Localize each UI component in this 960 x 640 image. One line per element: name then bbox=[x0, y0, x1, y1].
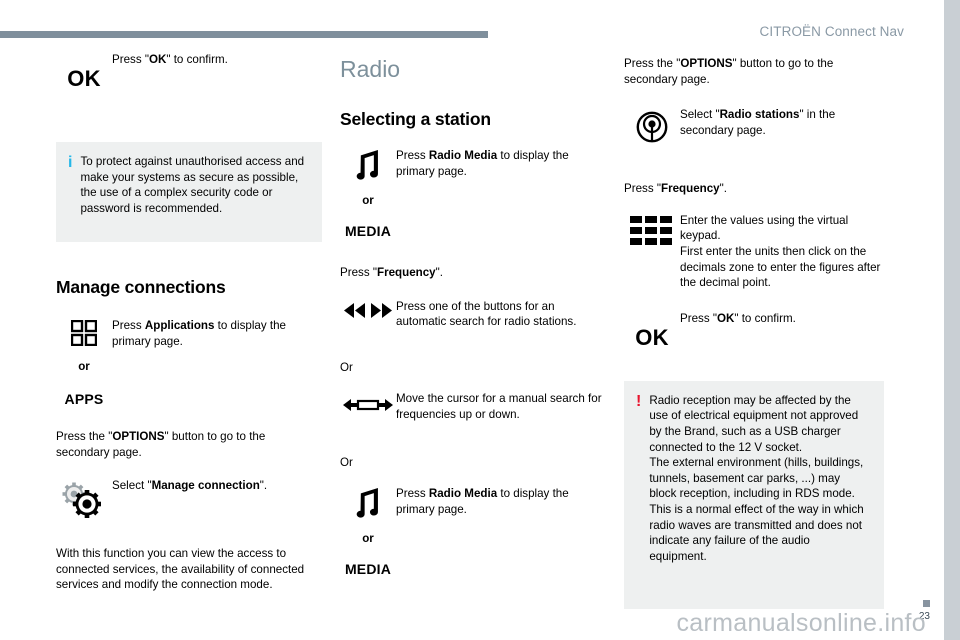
ok-suffix: " to confirm. bbox=[166, 53, 227, 66]
music-note-icon-cell-1: or MEDIA bbox=[340, 148, 396, 239]
manage-connection-paragraph: Select "Manage connection". bbox=[112, 478, 322, 494]
auto-search-step: Press one of the buttons for an automati… bbox=[340, 299, 606, 330]
page-number: 23 bbox=[919, 611, 930, 622]
manage-connections-title: Manage connections bbox=[56, 276, 322, 298]
page-marker-square bbox=[923, 600, 930, 607]
radio-media-step-2: or MEDIA Press Radio Media to display th… bbox=[340, 486, 606, 577]
apps-button-label[interactable]: APPS bbox=[65, 391, 104, 407]
ok-button-label-right[interactable]: OK bbox=[635, 325, 669, 351]
radio-antenna-icon-cell bbox=[624, 107, 680, 143]
rm2-prefix: Press bbox=[396, 487, 429, 500]
music-note-icon-cell-2: or MEDIA bbox=[340, 486, 396, 577]
rm2-bold: Radio Media bbox=[429, 487, 497, 500]
options-paragraph-right: Press the "OPTIONS" button to go to the … bbox=[624, 56, 890, 87]
ok-step-left: OK Press "OK" to confirm. bbox=[56, 52, 322, 92]
seek-prev-next-icon[interactable] bbox=[343, 302, 393, 319]
brand-title: CITROËN Connect Nav bbox=[760, 24, 904, 39]
ok-bold: OK bbox=[149, 53, 166, 66]
okr-prefix: Press " bbox=[680, 312, 717, 325]
apps-bold: Applications bbox=[145, 319, 215, 332]
manual-search-text: Move the cursor for a manual search for … bbox=[396, 391, 606, 422]
mc-bold: Manage connection bbox=[152, 479, 260, 492]
radio-antenna-icon[interactable] bbox=[636, 111, 668, 143]
radio-media-text-2: Press Radio Media to display the primary… bbox=[396, 486, 606, 517]
gears-icon-cell bbox=[56, 478, 112, 518]
opt-right-bold: OPTIONS bbox=[680, 57, 732, 70]
chapter-title-radio: Radio bbox=[340, 56, 606, 82]
virtual-keypad-icon[interactable] bbox=[630, 216, 674, 246]
warning-callout-text: Radio reception may be affected by the u… bbox=[649, 393, 870, 597]
rm1-prefix: Press bbox=[396, 149, 429, 162]
column-left: OK Press "OK" to confirm. i To protect a… bbox=[56, 52, 322, 593]
left-right-cursor-icon[interactable] bbox=[342, 397, 394, 413]
applications-paragraph: Press Applications to display the primar… bbox=[112, 318, 322, 349]
frequency-paragraph-middle: Press "Frequency". bbox=[340, 265, 606, 281]
freq-m-suffix: ". bbox=[436, 266, 443, 279]
applications-or-label: or bbox=[78, 360, 90, 373]
warning-callout: ! Radio reception may be affected by the… bbox=[624, 381, 884, 609]
radio-stations-paragraph: Select "Radio stations" in the secondary… bbox=[680, 107, 890, 138]
keypad-icon-cell bbox=[624, 213, 680, 246]
column-middle: Radio Selecting a station or MEDIA Press… bbox=[340, 52, 606, 577]
applications-step-text: Press Applications to display the primar… bbox=[112, 318, 322, 349]
info-callout-text: To protect against unauthorised access a… bbox=[80, 154, 308, 230]
rs-bold: Radio stations bbox=[720, 108, 800, 121]
column-right: Press the "OPTIONS" button to go to the … bbox=[624, 52, 890, 609]
or-label-middle-2: Or bbox=[340, 455, 606, 471]
okr-bold: OK bbox=[717, 312, 734, 325]
applications-grid-icon[interactable] bbox=[71, 320, 97, 346]
music-note-icon[interactable] bbox=[354, 150, 382, 180]
apps-prefix: Press bbox=[112, 319, 145, 332]
media-button-label-1[interactable]: MEDIA bbox=[345, 223, 391, 239]
page-header: CITROËN Connect Nav bbox=[0, 24, 960, 46]
radio-media-step-1: or MEDIA Press Radio Media to display th… bbox=[340, 148, 606, 239]
radio-media-text-1: Press Radio Media to display the primary… bbox=[396, 148, 606, 179]
radio-stations-text: Select "Radio stations" in the secondary… bbox=[680, 107, 890, 138]
okr-suffix: " to confirm. bbox=[734, 312, 795, 325]
opt-right-prefix: Press the " bbox=[624, 57, 680, 70]
mc-prefix: Select " bbox=[112, 479, 152, 492]
rs-prefix: Select " bbox=[680, 108, 720, 121]
freq-r-prefix: Press " bbox=[624, 182, 661, 195]
keypad-step: Enter the values using the virtual keypa… bbox=[624, 213, 890, 291]
radio-media-or-label-2: or bbox=[362, 532, 374, 545]
ok-step-right: OK Press "OK" to confirm. bbox=[624, 311, 890, 351]
mc-suffix: ". bbox=[260, 479, 267, 492]
rm1-bold: Radio Media bbox=[429, 149, 497, 162]
radio-media-or-label-1: or bbox=[362, 194, 374, 207]
auto-search-text: Press one of the buttons for an automati… bbox=[396, 299, 606, 330]
seek-icon-cell bbox=[340, 299, 396, 319]
auto-search-paragraph: Press one of the buttons for an automati… bbox=[396, 299, 606, 330]
ok-prefix: Press " bbox=[112, 53, 149, 66]
ok-button-label[interactable]: OK bbox=[67, 66, 101, 92]
freq-r-bold: Frequency bbox=[661, 182, 720, 195]
or-label-middle-1: Or bbox=[340, 360, 606, 376]
opt-left-bold: OPTIONS bbox=[112, 430, 164, 443]
radio-stations-step: Select "Radio stations" in the secondary… bbox=[624, 107, 890, 143]
warning-icon: ! bbox=[636, 393, 641, 597]
radio-media-paragraph-1: Press Radio Media to display the primary… bbox=[396, 148, 606, 179]
manual-search-step: Move the cursor for a manual search for … bbox=[340, 391, 606, 422]
freq-r-suffix: ". bbox=[720, 182, 727, 195]
manage-connection-step: Select "Manage connection". bbox=[56, 478, 322, 518]
closing-paragraph-left: With this function you can view the acce… bbox=[56, 546, 322, 593]
applications-step: or APPS Press Applications to display th… bbox=[56, 318, 322, 407]
selecting-a-station-title: Selecting a station bbox=[340, 108, 606, 130]
freq-m-bold: Frequency bbox=[377, 266, 436, 279]
ok-step-paragraph: Press "OK" to confirm. bbox=[112, 52, 322, 68]
site-watermark: carmanualsonline.info bbox=[0, 609, 944, 638]
opt-left-prefix: Press the " bbox=[56, 430, 112, 443]
applications-icon-cell: or APPS bbox=[56, 318, 112, 407]
info-callout: i To protect against unauthorised access… bbox=[56, 142, 322, 242]
keypad-paragraph: Enter the values using the virtual keypa… bbox=[680, 213, 890, 291]
ok-step-text: Press "OK" to confirm. bbox=[112, 52, 322, 68]
freq-m-prefix: Press " bbox=[340, 266, 377, 279]
header-rule bbox=[0, 31, 488, 38]
gears-icon[interactable] bbox=[60, 482, 108, 518]
ok-button-icon-cell: OK bbox=[56, 52, 112, 92]
keypad-text: Enter the values using the virtual keypa… bbox=[680, 213, 890, 291]
media-button-label-2[interactable]: MEDIA bbox=[345, 561, 391, 577]
right-edge-band bbox=[944, 0, 960, 640]
ok-button-icon-cell-right: OK bbox=[624, 311, 680, 351]
cursor-icon-cell bbox=[340, 391, 396, 413]
info-icon: i bbox=[68, 154, 72, 230]
options-paragraph-left: Press the "OPTIONS" button to go to the … bbox=[56, 429, 322, 460]
music-note-icon[interactable] bbox=[354, 488, 382, 518]
frequency-paragraph-right: Press "Frequency". bbox=[624, 181, 890, 197]
ok-step-text-right: Press "OK" to confirm. bbox=[680, 311, 890, 327]
manual-page: CITROËN Connect Nav OK Press "OK" to con… bbox=[0, 0, 960, 640]
manual-search-paragraph: Move the cursor for a manual search for … bbox=[396, 391, 606, 422]
manage-connection-text: Select "Manage connection". bbox=[112, 478, 322, 494]
radio-media-paragraph-2: Press Radio Media to display the primary… bbox=[396, 486, 606, 517]
ok-step-paragraph-right: Press "OK" to confirm. bbox=[680, 311, 890, 327]
